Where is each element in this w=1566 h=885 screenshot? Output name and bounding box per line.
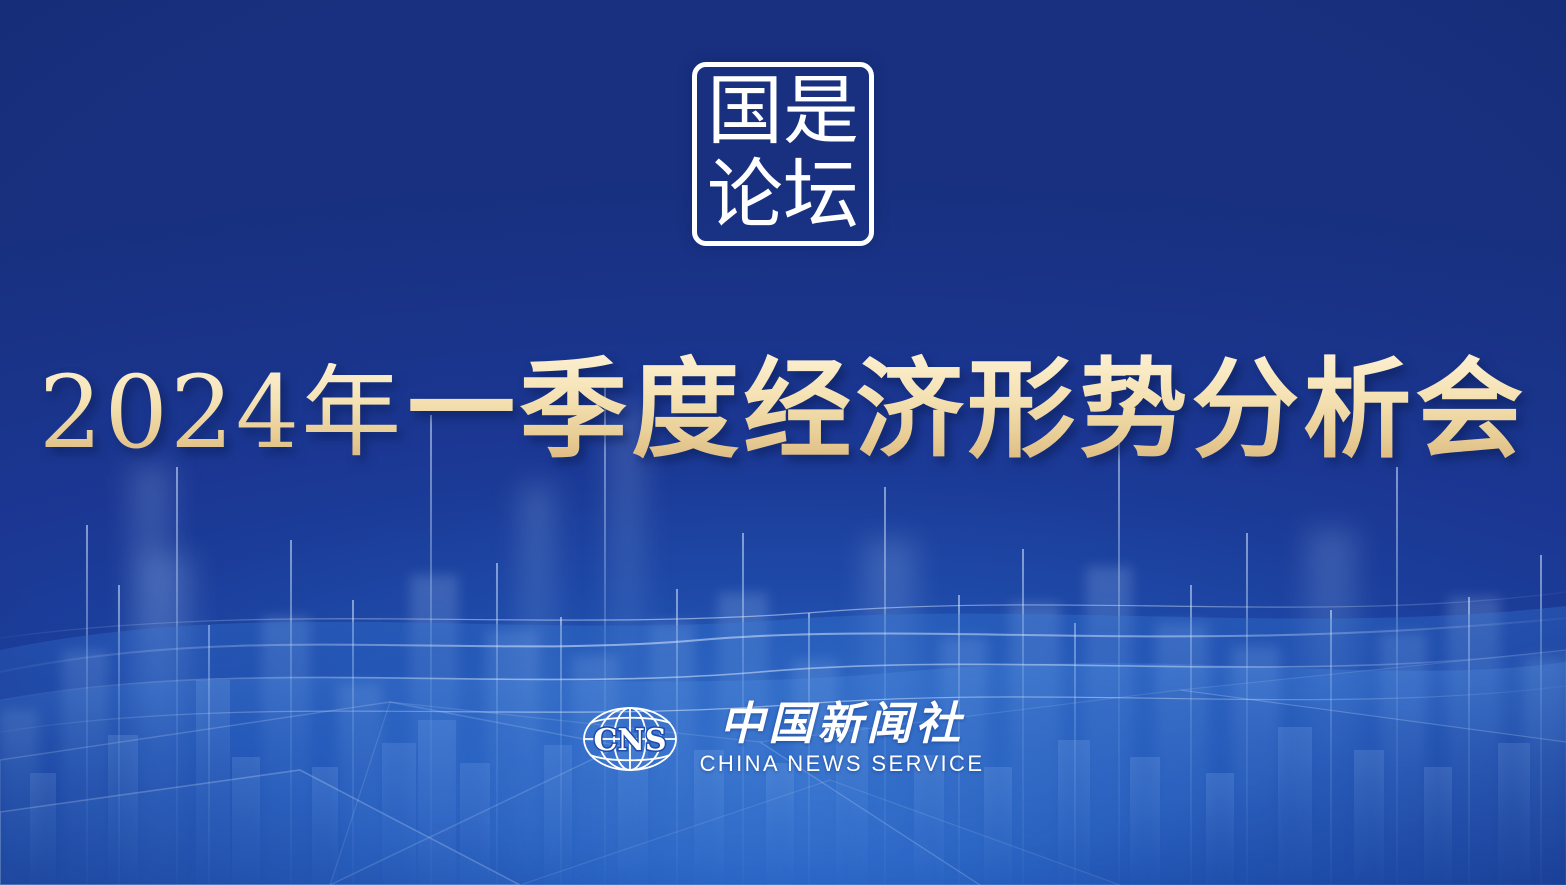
forum-logo-char-1: 国 — [707, 75, 783, 153]
forum-logo-char-4: 坛 — [783, 153, 859, 231]
title-year: 2024年 — [39, 363, 404, 463]
forum-logo-seal: 国 是 论 坛 — [692, 62, 874, 246]
forum-logo-char-3: 论 — [707, 153, 783, 231]
poster-canvas: 国 是 论 坛 2024年 一季度经济形势分析会 CNS 中国新闻社 CHINA… — [0, 0, 1566, 885]
forum-logo-char-2: 是 — [783, 75, 859, 153]
title-block: 2024年 一季度经济形势分析会 — [0, 336, 1566, 469]
cns-wordmark: 中国新闻社 CHINA NEWS SERVICE — [700, 700, 985, 777]
cns-globe-icon: CNS — [582, 706, 678, 772]
cns-name-en: CHINA NEWS SERVICE — [700, 751, 985, 777]
cns-globe-text: CNS — [593, 723, 666, 758]
title-main: 一季度经济形势分析会 — [407, 352, 1527, 469]
cns-name-cn: 中国新闻社 — [719, 700, 964, 747]
cns-brand-lockup: CNS 中国新闻社 CHINA NEWS SERVICE — [0, 700, 1566, 777]
